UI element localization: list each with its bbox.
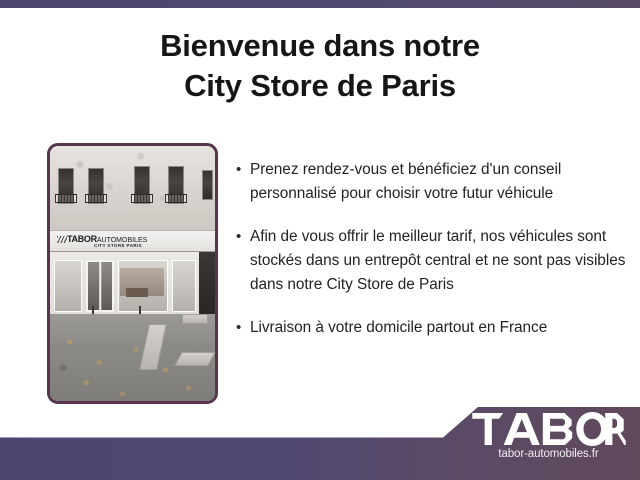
list-item: • Prenez rendez-vous et bénéficiez d'un … <box>236 158 634 206</box>
photo-balcony-rail <box>165 194 187 203</box>
storefront-photo-image: TABORAUTOMOBILES CITY STORE PARIS <box>50 146 215 401</box>
footer-shape <box>0 400 640 480</box>
slide-canvas: Bienvenue dans notre City Store de Paris… <box>0 0 640 480</box>
photo-curb <box>174 352 215 366</box>
bullet-list: • Prenez rendez-vous et bénéficiez d'un … <box>236 158 634 359</box>
list-item: • Afin de vous offrir le meilleur tarif,… <box>236 225 634 297</box>
photo-shop-window <box>54 260 82 312</box>
title-line-2: City Store de Paris <box>0 66 640 106</box>
photo-side-panel <box>199 252 215 314</box>
photo-storefront <box>50 252 215 314</box>
photo-balcony-rail <box>55 194 77 203</box>
footer-bar: tabor-automobiles.fr <box>0 400 640 480</box>
photo-shop-window <box>172 260 196 312</box>
list-item: • Livraison à votre domicile partout en … <box>236 316 634 340</box>
photo-shop-desk <box>126 288 148 297</box>
photo-balcony-rail <box>85 194 107 203</box>
photo-shop-sign: TABORAUTOMOBILES CITY STORE PARIS <box>50 230 215 252</box>
photo-building-facade <box>50 146 215 230</box>
bullet-marker-icon: • <box>236 316 250 340</box>
photo-curb <box>182 314 208 324</box>
photo-sign-sub-text: CITY STORE PARIS <box>94 243 142 248</box>
photo-sign-brand: TABOR <box>67 234 97 244</box>
bullet-text: Afin de vous offrir le meilleur tarif, n… <box>250 225 634 297</box>
photo-window <box>202 170 213 200</box>
title-line-1: Bienvenue dans notre <box>0 26 640 66</box>
bullet-text: Livraison à votre domicile partout en Fr… <box>250 316 634 340</box>
bullet-text: Prenez rendez-vous et bénéficiez d'un co… <box>250 158 634 206</box>
photo-shop-door <box>86 260 114 312</box>
photo-balcony-rail <box>131 194 153 203</box>
bullet-marker-icon: • <box>236 158 250 182</box>
page-title: Bienvenue dans notre City Store de Paris <box>0 26 640 106</box>
storefront-photo: TABORAUTOMOBILES CITY STORE PARIS <box>47 143 218 404</box>
bullet-marker-icon: • <box>236 225 250 249</box>
top-accent-strip <box>0 0 640 8</box>
photo-sign-chevrons-icon <box>57 236 67 243</box>
